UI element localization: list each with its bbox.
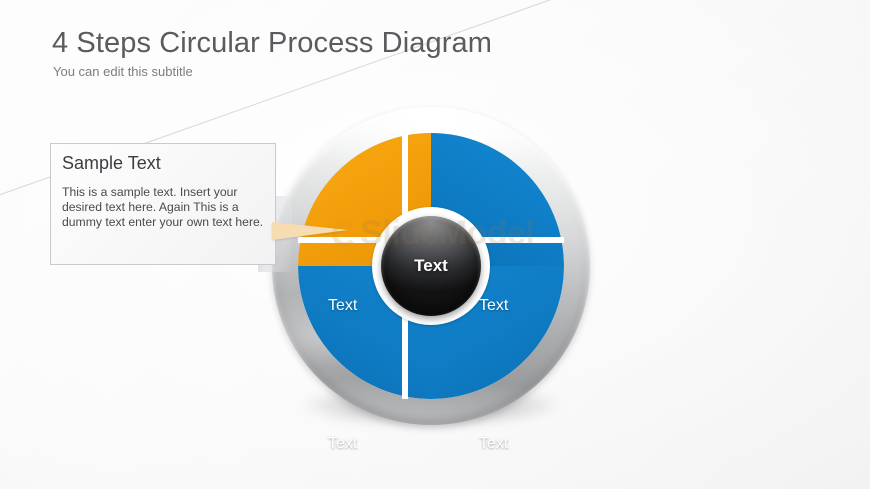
quadrant-label-top-left: Text xyxy=(328,297,357,315)
callout-title: Sample Text xyxy=(62,153,161,174)
quadrant-label-bottom-right: Text xyxy=(479,435,508,453)
quadrant-label-top-right: Text xyxy=(479,297,508,315)
hub-label: Text xyxy=(381,256,481,276)
slide-canvas: 4 Steps Circular Process Diagram You can… xyxy=(0,0,870,489)
quadrant-label-bottom-left: Text xyxy=(328,435,357,453)
callout-body: This is a sample text. Insert your desir… xyxy=(62,185,268,231)
callout-pointer-icon xyxy=(272,222,348,240)
page-title: 4 Steps Circular Process Diagram xyxy=(52,27,492,60)
sample-text-callout[interactable]: Sample Text This is a sample text. Inser… xyxy=(50,143,276,265)
center-hub-sphere[interactable]: Text xyxy=(381,216,481,316)
page-subtitle: You can edit this subtitle xyxy=(53,64,193,79)
circular-process-diagram: Text Text Text Text Text xyxy=(272,107,590,425)
